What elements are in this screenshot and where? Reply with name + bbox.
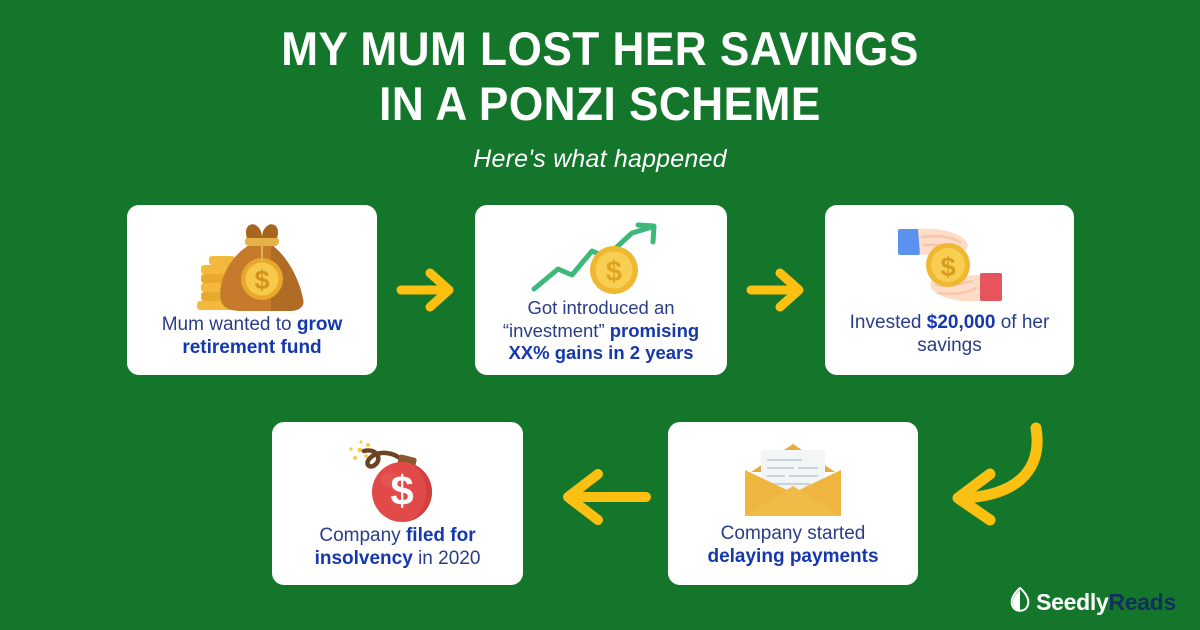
step-card-5-text: Company filed for insolvency in 2020 — [284, 524, 511, 574]
svg-text:$: $ — [606, 256, 622, 288]
step-3-text-part-2: $20,000 — [927, 312, 996, 333]
step-1-text-part-1: Mum wanted to — [162, 314, 297, 335]
logo-word-seedly: Seedly — [1036, 589, 1108, 615]
step-card-2: $ Got introduced an “investment” promisi… — [475, 205, 727, 375]
step-card-4-text: Company started delaying payments — [680, 522, 906, 572]
step-card-4: Company started delaying payments — [668, 422, 918, 585]
step-card-3: $ Invested $20,000 of her savings — [825, 205, 1074, 375]
logo-word-reads: Reads — [1108, 589, 1176, 615]
seedly-leaf-icon — [1009, 587, 1031, 618]
arrow-curved-down-left-icon — [920, 418, 1052, 535]
arrow-left-icon — [550, 466, 654, 533]
step-card-1-text: Mum wanted to grow retirement fund — [139, 313, 365, 363]
arrow-right-icon-2 — [746, 262, 808, 323]
money-bag-icon: $ — [193, 221, 311, 313]
logo-wordmark: SeedlyReads — [1036, 589, 1176, 616]
header: MY MUM LOST HER SAVINGS IN A PONZI SCHEM… — [0, 0, 1200, 174]
step-5-text-part-3: in 2020 — [413, 548, 481, 569]
dollar-bomb-icon: $ — [342, 438, 454, 524]
title-line-2: IN A PONZI SCHEME — [36, 77, 1164, 132]
infographic-canvas: MY MUM LOST HER SAVINGS IN A PONZI SCHEM… — [0, 0, 1200, 630]
step-4-text-part-1: Company started — [721, 523, 866, 544]
step-card-3-text: Invested $20,000 of her savings — [837, 311, 1062, 361]
title-line-1: MY MUM LOST HER SAVINGS — [36, 22, 1164, 77]
svg-text:$: $ — [940, 252, 955, 282]
step-card-5: $ Company filed for insolvency in 2020 — [272, 422, 523, 585]
step-4-text-part-2: delaying payments — [707, 546, 878, 567]
step-5-text-part-1: Company — [319, 525, 406, 546]
open-envelope-letter-icon — [737, 438, 849, 522]
step-card-2-text: Got introduced an “investment” promising… — [487, 297, 715, 369]
svg-text:$: $ — [390, 467, 413, 514]
step-card-1: $ Mum wanted to grow retirement fund — [127, 205, 377, 375]
growth-chart-coin-icon: $ — [526, 221, 676, 297]
subtitle: Here's what happened — [0, 145, 1200, 174]
seedly-reads-logo[interactable]: SeedlyReads — [1009, 587, 1176, 618]
hands-exchanging-coin-icon: $ — [880, 221, 1020, 311]
step-3-text-part-1: Invested — [850, 312, 927, 333]
arrow-right-icon-1 — [396, 262, 458, 323]
svg-text:$: $ — [254, 265, 269, 295]
